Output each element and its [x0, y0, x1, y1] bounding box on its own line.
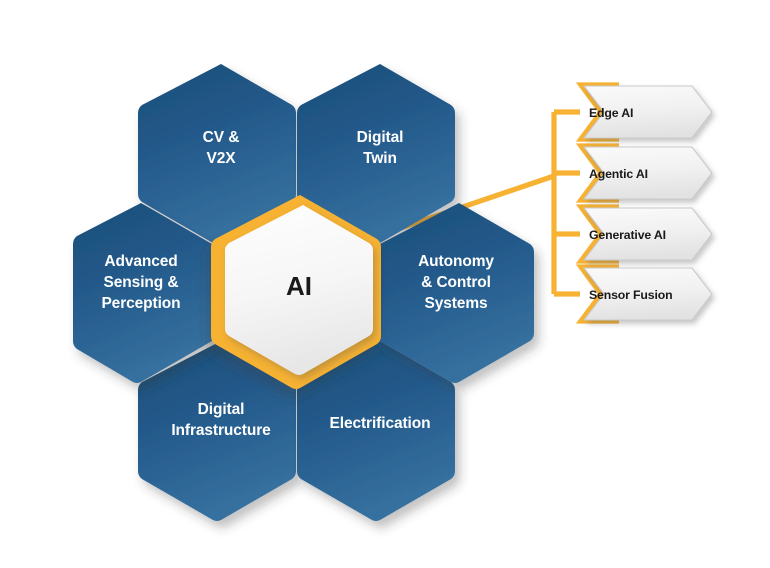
branch-chevron-edge-ai-label: Edge AI	[589, 106, 633, 120]
hexagon-autonomy-control-systems-label-line-2: & Control	[421, 274, 491, 291]
hexagon-digital-infrastructure-label-line-2: Infrastructure	[171, 422, 271, 439]
hexagon-digital-infrastructure-label-line-1: Digital	[198, 401, 245, 418]
hexagon-advanced-sensing-perception-label-line-2: Sensing &	[104, 274, 179, 291]
hexagon-autonomy-control-systems-label-line-3: Systems	[424, 295, 487, 312]
branch-chevron-agentic-ai-label: Agentic AI	[589, 167, 648, 181]
hexagon-cluster-diagram: CV & V2X Digital Twin Digital Infrastruc…	[0, 0, 770, 568]
hexagon-digital-twin-label-line-2: Twin	[363, 150, 397, 167]
branch-chevron-generative-ai-label: Generative AI	[589, 228, 666, 242]
hexagon-advanced-sensing-perception-label-line-3: Perception	[101, 295, 180, 312]
branch-chevron-agentic-ai[interactable]: Agentic AI	[584, 147, 712, 199]
branch-chevron-sensor-fusion[interactable]: Sensor Fusion	[584, 268, 712, 320]
branch-chevron-sensor-fusion-label: Sensor Fusion	[589, 288, 672, 302]
branch-chevron-generative-ai[interactable]: Generative AI	[584, 208, 712, 260]
hexagon-center-ai-label: AI	[286, 271, 312, 301]
hexagon-electrification-label-line-1: Electrification	[330, 415, 431, 432]
hexagon-digital-twin-label-line-1: Digital	[357, 129, 404, 146]
hexagon-cv-v2x-label-line-1: CV &	[203, 129, 240, 146]
branch-chevron-edge-ai[interactable]: Edge AI	[584, 86, 712, 138]
diagram-canvas: CV & V2X Digital Twin Digital Infrastruc…	[0, 0, 770, 568]
hexagon-advanced-sensing-perception-label-line-1: Advanced	[104, 253, 177, 270]
hexagon-autonomy-control-systems-label-line-1: Autonomy	[418, 253, 494, 270]
hexagon-cv-v2x-label-line-2: V2X	[207, 150, 237, 167]
